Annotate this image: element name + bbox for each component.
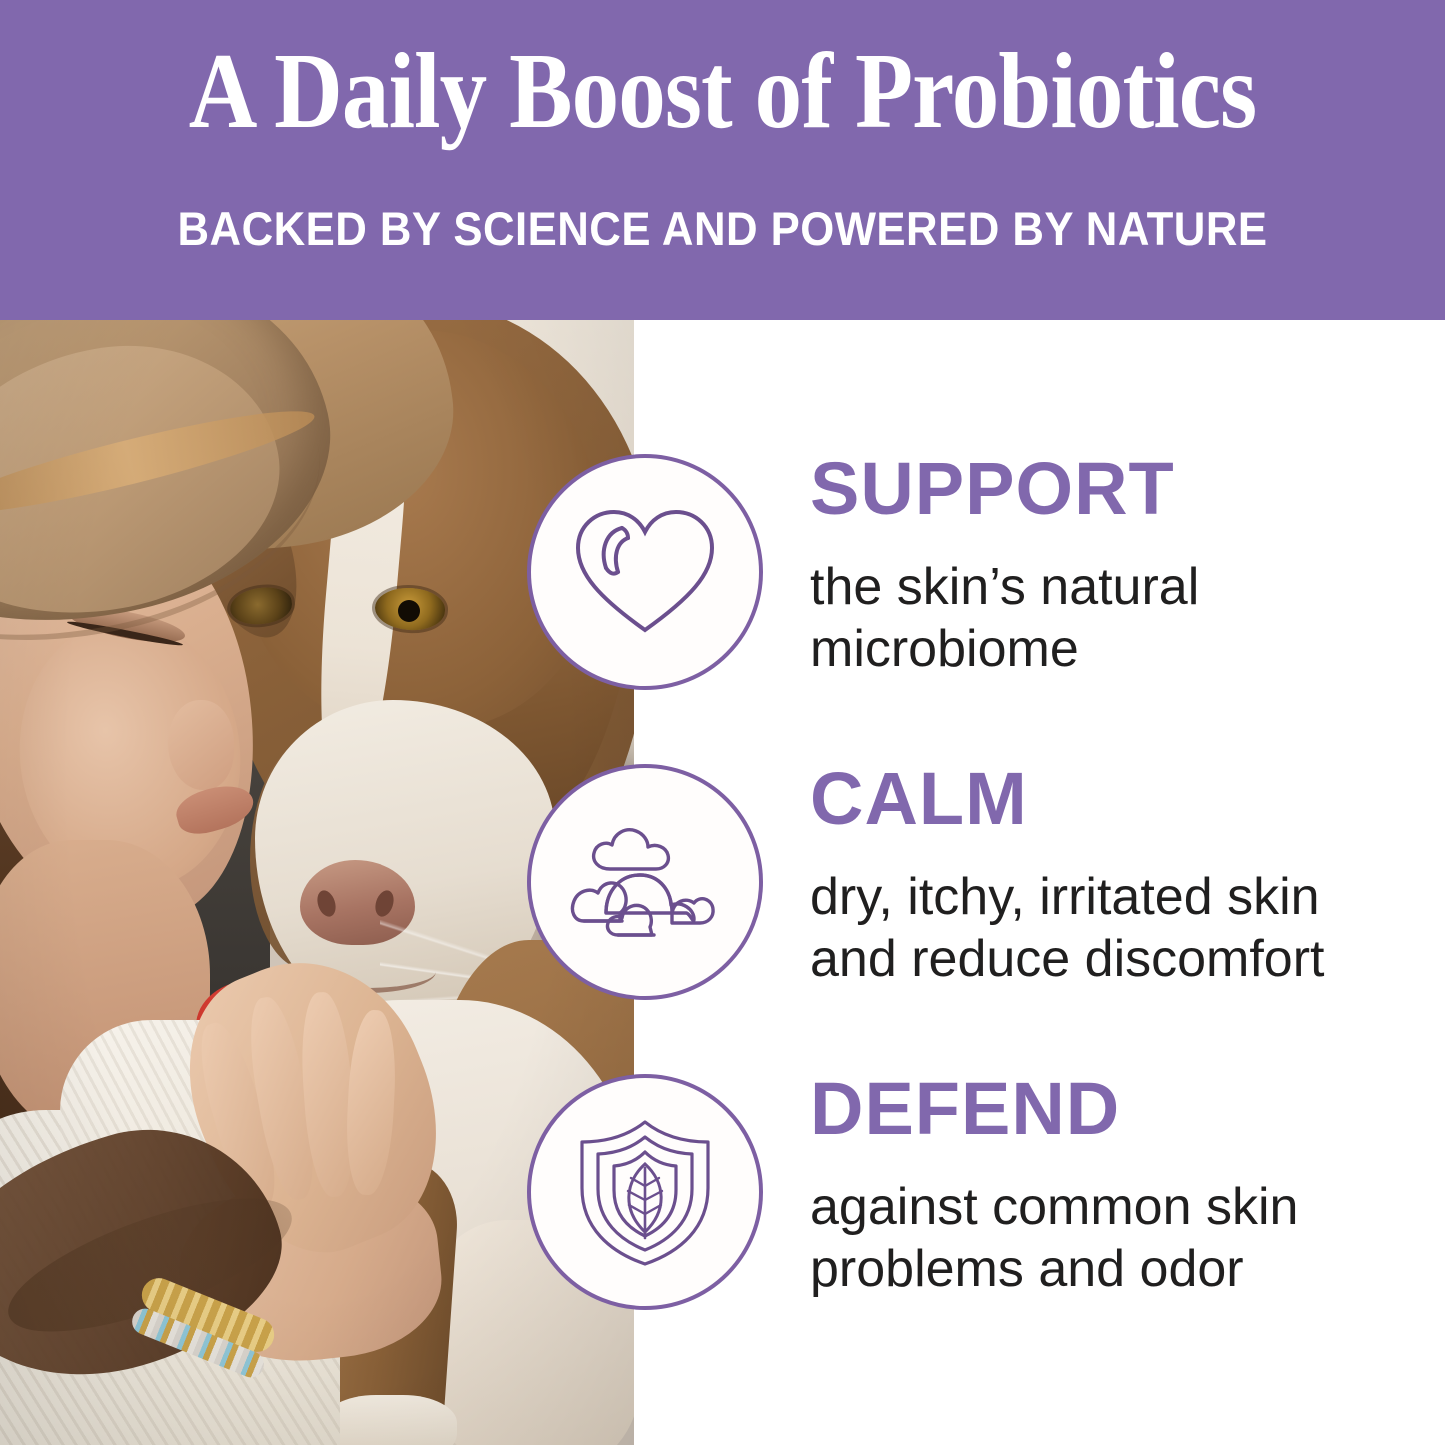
benefit-body-defend: against common skin problems and odor (810, 1176, 1430, 1301)
page-subtitle: BACKED BY SCIENCE AND POWERED BY NATURE (51, 205, 1395, 252)
promo-graphic: A Daily Boost of Probiotics BACKED BY SC… (0, 0, 1445, 1445)
benefit-title-defend: DEFEND (810, 1072, 1120, 1146)
header-band: A Daily Boost of Probiotics BACKED BY SC… (0, 0, 1445, 320)
woman-nose (168, 700, 234, 790)
benefit-icon-support (527, 454, 763, 690)
clouds-icon (570, 817, 720, 947)
benefit-body-support: the skin’s natural microbiome (810, 556, 1430, 681)
dog-pupil-right (398, 600, 420, 622)
benefit-body-calm: dry, itchy, irritated skin and reduce di… (810, 866, 1430, 991)
benefit-icon-calm (527, 764, 763, 1000)
heart-icon (570, 502, 720, 642)
shield-leaf-icon (570, 1116, 720, 1268)
benefit-icon-defend (527, 1074, 763, 1310)
dog-paw (322, 1395, 457, 1445)
benefit-title-support: SUPPORT (810, 452, 1175, 526)
benefit-title-calm: CALM (810, 762, 1028, 836)
page-title: A Daily Boost of Probiotics (87, 38, 1359, 146)
